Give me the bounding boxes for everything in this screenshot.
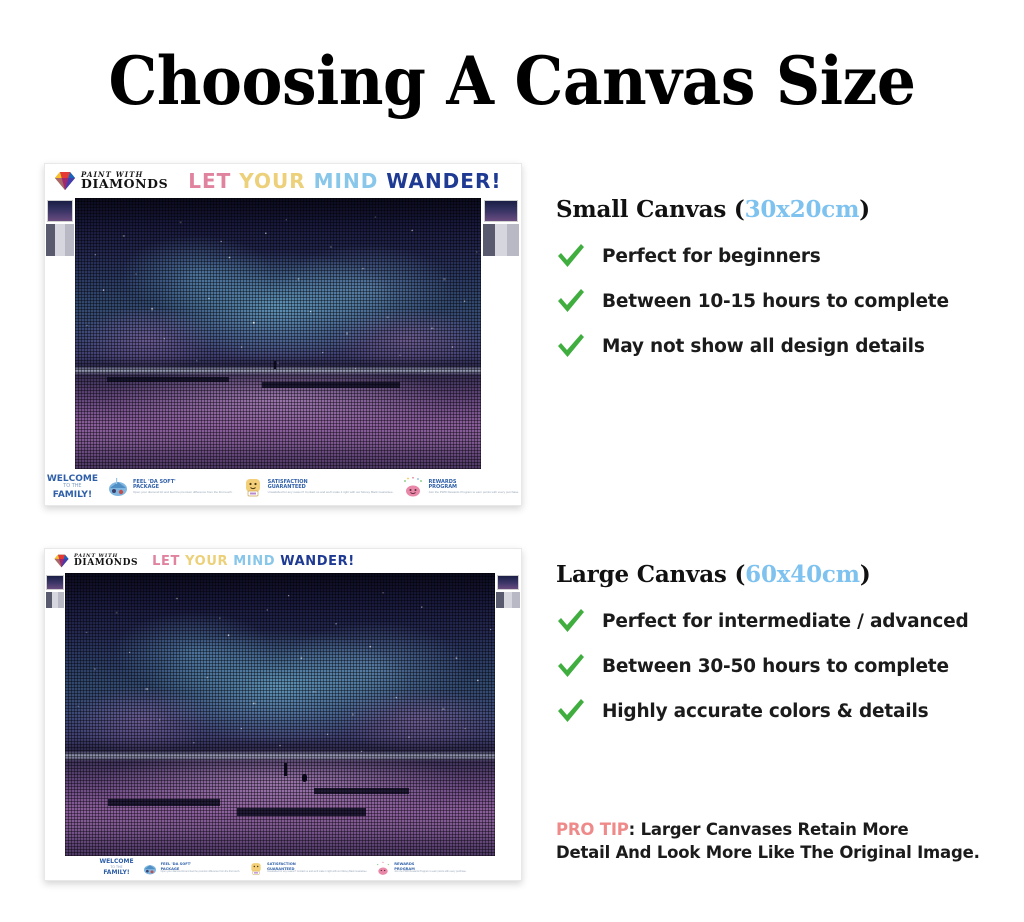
list-item-label: Highly accurate colors & details [602,701,928,722]
list-item: Between 10-15 hours to complete [556,287,1016,315]
legend-swatch-grid [46,592,64,608]
canvas-header: PAINT WITH DIAMONDS LET YOUR MIND WANDER… [45,164,521,198]
badge-satisfaction-guaranteed: SATISFACTION GUARANTEED Unsatisfied for … [248,861,367,876]
heading-dimension: 30x20cm [745,196,860,223]
badge-soft-package: FEEL 'DA SOFT' PACKAGE Open your diamond… [142,861,240,876]
brand-logo: PAINT WITH DIAMONDS [53,554,138,568]
list-item: Highly accurate colors & details [556,697,1016,725]
canvas-tagline: LET YOUR MIND WANDER! [188,169,501,193]
legend-swatch-grid [46,224,74,256]
tagline-word-3: MIND [314,169,379,193]
welcome-line-3: FAMILY! [103,869,129,876]
mascot-illustration-icon [241,476,265,498]
large-canvas-info: Large Canvas (60x40cm) Perfect for inter… [556,561,1016,742]
legend-thumbnail [47,200,73,222]
list-item-label: Between 30-50 hours to complete [602,656,949,677]
badge-body: Open your diamond kit and feel the premi… [161,871,240,874]
confetti-illustration-icon [375,861,391,876]
check-icon [556,652,602,680]
welcome-line-3: FAMILY! [53,490,92,500]
tagline-word-4: WANDER! [386,169,501,193]
heading-prefix: Large Canvas ( [556,561,745,588]
badge-body: Open your diamond kit and feel the premi… [133,491,233,494]
list-item-label: May not show all design details [602,336,925,357]
canvas-footer-badges: WELCOME TO THE FAMILY! FEEL 'DA SOFT' PA… [45,469,521,505]
badge-body: Join the PWD Rewards Program to earn poi… [394,871,466,874]
tagline-word-2: YOUR [239,169,305,193]
badge-soft-package: FEEL 'DA SOFT' PACKAGE Open your diamond… [106,476,233,498]
badge-satisfaction-guaranteed: SATISFACTION GUARANTEED Unsatisfied for … [241,476,394,498]
infographic-page: Choosing A Canvas Size PAINT WITH DIAMON… [0,0,1024,922]
badge-body: Join the PWD Rewards Program to earn poi… [428,491,519,494]
badge-body: Unsatisfied for any reason? Contact us a… [267,871,367,874]
legend-thumbnail [484,200,518,222]
package-illustration-icon [142,861,158,876]
confetti-illustration-icon [401,476,425,498]
list-item: Between 30-50 hours to complete [556,652,1016,680]
tagline-word-3: MIND [233,554,275,569]
heading-dimension: 60x40cm [745,561,860,588]
right-color-legend-panel [481,198,521,469]
horizon-silhouette [262,382,400,388]
small-canvas-product-card[interactable]: PAINT WITH DIAMONDS LET YOUR MIND WANDER… [44,163,522,506]
large-canvas-heading: Large Canvas (60x40cm) [556,561,1016,588]
check-icon [556,242,602,270]
page-title: Choosing A Canvas Size [36,42,988,120]
legend-thumbnail [46,575,63,590]
welcome-message: WELCOME TO THE FAMILY! [47,474,98,500]
right-color-legend-panel [495,573,521,856]
left-color-legend-panel [45,573,65,856]
horizon-glow [75,366,481,375]
horizon-silhouette [108,799,220,806]
tagline-word-4: WANDER! [280,554,355,569]
check-icon [556,332,602,360]
list-item-label: Perfect for intermediate / advanced [602,611,969,632]
horizon-silhouette [107,377,229,382]
figure-silhouette [284,763,287,776]
tagline-word-1: LET [152,554,180,569]
figure-silhouette [302,774,307,782]
package-illustration-icon [106,476,130,498]
welcome-message: WELCOME TO THE FAMILY! [99,859,133,877]
star-field [75,198,481,469]
legend-swatch-grid [483,224,520,256]
horizon-silhouette [314,788,409,794]
small-canvas-heading: Small Canvas (30x20cm) [556,196,1016,223]
list-item-label: Between 10-15 hours to complete [602,291,949,312]
brand-line-2: DIAMONDS [74,559,138,568]
diamond-icon [53,171,77,191]
badge-body: Unsatisfied for any reason? Contact us a… [268,491,394,494]
list-item: May not show all design details [556,332,1016,360]
check-icon [556,697,602,725]
pro-tip-note: PRO TIP: Larger Canvases Retain More Det… [556,818,1024,864]
canvas-artwork-small [75,198,481,469]
heading-prefix: Small Canvas ( [556,196,745,223]
list-item: Perfect for beginners [556,242,1016,270]
pro-tip-line-1: : Larger Canvases Retain More [629,820,909,839]
check-icon [556,287,602,315]
brand-logo: PAINT WITH DIAMONDS [53,171,168,191]
canvas-header: PAINT WITH DIAMONDS LET YOUR MIND WANDER… [45,549,521,573]
check-icon [556,607,602,635]
brand-line-2: DIAMONDS [81,178,168,191]
badge-rewards-program: REWARDS PROGRAM Join the PWD Rewards Pro… [375,861,466,876]
tagline-word-2: YOUR [185,554,228,569]
legend-thumbnail [497,575,519,590]
canvas-tagline: LET YOUR MIND WANDER! [152,554,355,569]
mascot-illustration-icon [248,861,264,876]
horizon-glow [65,751,495,761]
large-canvas-product-card[interactable]: PAINT WITH DIAMONDS LET YOUR MIND WANDER… [44,548,522,881]
heading-suffix: ) [859,196,870,223]
list-item: Perfect for intermediate / advanced [556,607,1016,635]
small-canvas-info: Small Canvas (30x20cm) Perfect for begin… [556,196,1016,377]
pro-tip-label: PRO TIP [556,820,629,839]
diamond-icon [53,554,70,568]
horizon-silhouette [237,808,366,816]
legend-swatch-grid [496,592,520,608]
heading-suffix: ) [860,561,871,588]
badge-rewards-program: REWARDS PROGRAM Join the PWD Rewards Pro… [401,476,519,498]
list-item-label: Perfect for beginners [602,246,821,267]
canvas-footer-badges: WELCOME TO THE FAMILY! FEEL 'DA SOFT' PA… [45,856,521,880]
figure-silhouette [274,361,276,369]
canvas-artwork-large [65,573,495,856]
left-color-legend-panel [45,198,75,469]
tagline-word-1: LET [188,169,231,193]
pro-tip-line-2: Detail And Look More Like The Original I… [556,843,980,862]
